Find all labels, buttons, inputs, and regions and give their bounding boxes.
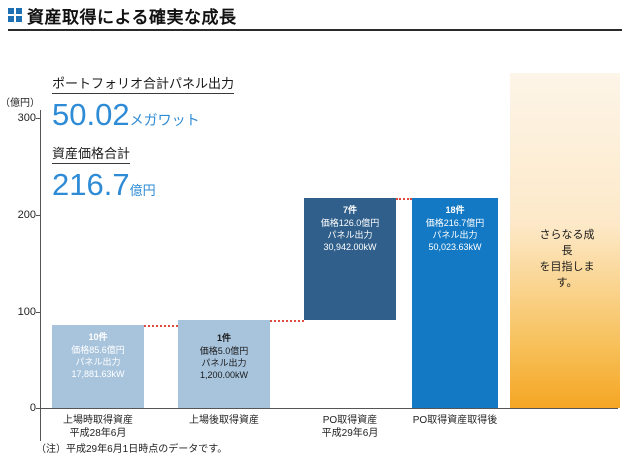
panel-output-heading: ポートフォリオ合計パネル出力 — [52, 73, 234, 94]
bar-po-output: パネル出力 30,942.00kW — [323, 229, 376, 253]
cat-label-ipo: 上場時取得資産 平成28年6月 — [46, 414, 150, 440]
cat-label-after-po: PO取得資産取得後 — [403, 414, 507, 427]
cat-label-po: PO取得資産 平成29年6月 — [298, 414, 402, 440]
bar-ipo-count: 10件 — [88, 331, 107, 343]
asset-price-value: 216.7 — [52, 167, 130, 202]
connector-3-4 — [396, 198, 412, 200]
title-marker-icon — [8, 8, 22, 22]
connector-1-2 — [144, 325, 178, 327]
bar-po-count: 7件 — [343, 204, 357, 216]
title-divider — [8, 29, 622, 31]
asset-price-value-row: 216.7億円 — [52, 167, 292, 203]
footnote: （注）平成29年6月1日時点のデータです。 — [36, 440, 227, 455]
asset-price-heading: 資産価格合計 — [52, 143, 130, 164]
cat-label-post-ipo: 上場後取得資産 — [172, 414, 276, 427]
panel-output-value: 50.02 — [52, 97, 130, 132]
growth-note: さらなる成長 を目指しま す。 — [538, 227, 596, 291]
summary-callout: ポートフォリオ合計パネル出力 50.02メガワット 資産価格合計 216.7億円 — [52, 73, 292, 203]
panel-output-unit: メガワット — [130, 112, 200, 128]
panel-output-heading-row: ポートフォリオ合計パネル出力 — [52, 73, 292, 94]
asset-price-unit: 億円 — [130, 183, 156, 198]
bar-post-ipo-count: 1件 — [217, 332, 231, 344]
bar-po-price: 価格126.0億円 — [321, 217, 380, 229]
x-axis-line — [40, 408, 618, 409]
bar-after-po: 18件 価格216.7億円 パネル出力 50,023.63kW — [412, 198, 498, 408]
bar-post-ipo-output: パネル出力 1,200.00kW — [200, 357, 248, 381]
panel-output-value-row: 50.02メガワット — [52, 97, 292, 133]
bar-after-po-price: 価格216.7億円 — [426, 217, 485, 229]
bar-po-base-segment — [304, 320, 396, 408]
page-title: 資産取得による確実な成長 — [27, 3, 237, 28]
bar-post-ipo-price: 価格5.0億円 — [200, 345, 249, 357]
bar-ipo-assets: 10件 価格85.6億円 パネル出力 17,881.63kW — [52, 325, 144, 408]
y-tick-mark-0 — [36, 408, 41, 409]
connector-2-3 — [270, 320, 304, 322]
asset-price-heading-row: 資産価格合計 — [52, 143, 292, 164]
bar-after-po-count: 18件 — [445, 204, 464, 216]
bar-ipo-output: パネル出力 17,881.63kW — [71, 356, 124, 380]
chart: （億円） 300 200 100 0 10件 価格85.6億円 パネル出力 17… — [0, 32, 630, 432]
bar-ipo-price: 価格85.6億円 — [71, 344, 125, 356]
bar-post-ipo-labels: 1件 価格5.0億円 パネル出力 1,200.00kW — [178, 332, 270, 381]
bar-after-po-output: パネル出力 50,023.63kW — [428, 229, 481, 253]
page-header: 資産取得による確実な成長 — [0, 0, 630, 30]
